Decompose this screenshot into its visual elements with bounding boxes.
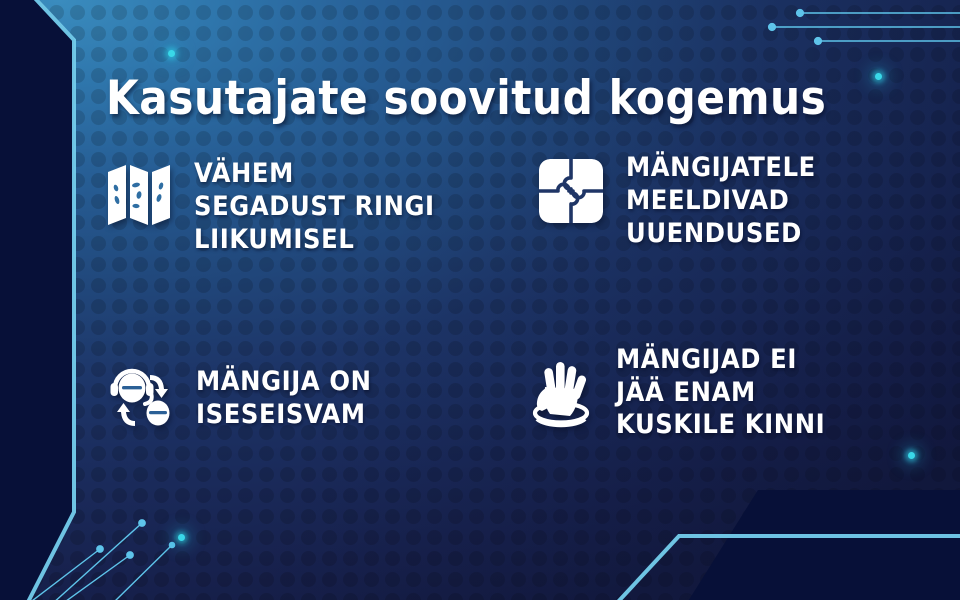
glow-particle [168,50,175,57]
feature-label: MÄNGIJATELE MEELDIVAD UUENDUSED [626,152,816,251]
feature-item-less-confusion: VÄHEM SEGADUST RINGI LIIKUMISEL [100,156,500,302]
puzzle-pieces-icon [532,152,610,230]
page-title: Kasutajate soovitud kogemus [106,74,826,123]
glow-particle [875,73,882,80]
support-agent-swap-icon [102,360,180,438]
feature-item-more-independent: MÄNGIJA ON ISESEISVAM [102,336,500,462]
drowning-hand-icon [522,354,600,432]
feature-label: MÄNGIJAD EI JÄÄ ENAM KUSKILE KINNI [616,344,825,443]
feature-list: VÄHEM SEGADUST RINGI LIIKUMISEL [100,152,910,462]
feature-label: VÄHEM SEGADUST RINGI LIIKUMISEL [194,156,435,257]
feature-label: MÄNGIJA ON ISESEISVAM [196,366,372,432]
folded-map-icon [100,156,178,234]
feature-item-not-stuck: MÄNGIJAD EI JÄÄ ENAM KUSKILE KINNI [522,324,910,462]
left-angled-panel [0,0,74,600]
slide-canvas: Kasutajate soovitud kogemus [0,0,960,600]
glow-particle [178,534,185,541]
feature-item-liked-updates: MÄNGIJATELE MEELDIVAD UUENDUSED [532,152,910,302]
